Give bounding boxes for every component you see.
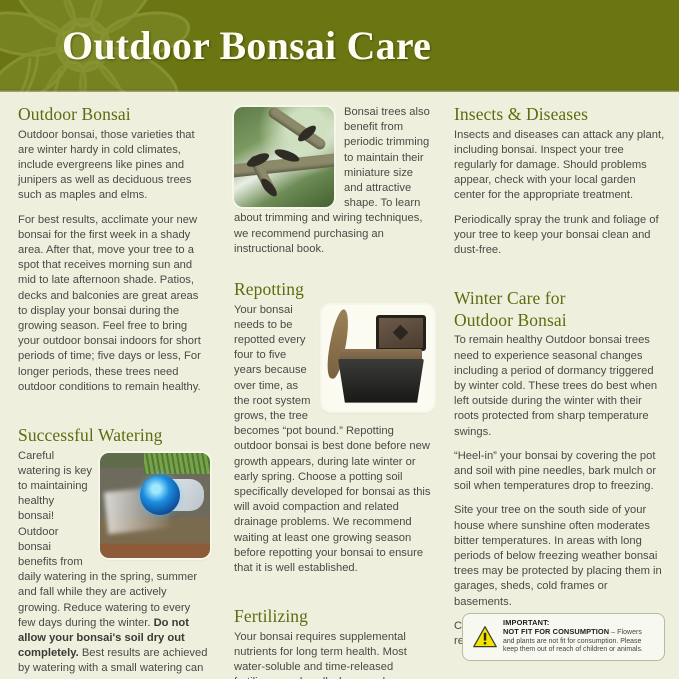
heading-successful-watering: Successful Watering	[18, 426, 210, 446]
paragraph-fertilizing: Your bonsai requires supplemental nutrie…	[234, 630, 434, 679]
heading-insects-diseases: Insects & Diseases	[454, 105, 665, 125]
paragraph-outdoor-bonsai-2: For best results, acclimate your new bon…	[18, 213, 210, 395]
middle-column: Bonsai trees also benefit from periodic …	[222, 95, 444, 679]
heading-fertilizing: Fertilizing	[234, 607, 434, 627]
paragraph-outdoor-bonsai-1: Outdoor bonsai, those varieties that are…	[18, 128, 210, 204]
section-spacer	[234, 585, 434, 607]
warning-line-3: and plants are not fit for consumption. …	[503, 638, 658, 647]
right-column: Insects & Diseases Insects and diseases …	[444, 95, 679, 649]
poster-page: Outdoor Bonsai Care Outdoor Bonsai Outdo…	[0, 0, 679, 679]
heading-repotting: Repotting	[234, 280, 434, 300]
warning-text-block: IMPORTANT: NOT FIT FOR CONSUMPTION – Flo…	[503, 619, 658, 654]
content-columns: Outdoor Bonsai Outdoor bonsai, those var…	[0, 95, 679, 679]
photo-tray-detail	[376, 315, 426, 351]
repotting-photo	[322, 305, 434, 411]
warning-line-4: keep them out of reach of children or an…	[503, 646, 658, 655]
photo-pot-detail	[338, 359, 424, 403]
photo-grass-detail	[144, 453, 210, 474]
section-spacer	[18, 404, 210, 426]
important-warning-box: IMPORTANT: NOT FIT FOR CONSUMPTION – Flo…	[462, 613, 665, 661]
page-header: Outdoor Bonsai Care	[0, 0, 679, 92]
photo-branch-detail	[267, 107, 328, 152]
page-title: Outdoor Bonsai Care	[62, 22, 431, 69]
wired-branch-photo	[234, 107, 334, 207]
heading-outdoor-bonsai: Outdoor Bonsai	[18, 105, 210, 125]
photo-bulb-detail	[140, 475, 180, 515]
paragraph-winter-2: “Heel-in” your bonsai by covering the po…	[454, 449, 665, 495]
warning-line-2-rest: – Flowers	[609, 629, 642, 636]
section-spacer	[454, 267, 665, 289]
warning-line-2-bold: NOT FIT FOR CONSUMPTION	[503, 627, 609, 636]
paragraph-insects-2: Periodically spray the trunk and foliage…	[454, 213, 665, 259]
paragraph-insects-1: Insects and diseases can attack any plan…	[454, 128, 665, 204]
section-spacer	[234, 266, 434, 280]
header-divider	[0, 89, 679, 92]
warning-triangle-icon	[472, 625, 498, 648]
warning-line-2: NOT FIT FOR CONSUMPTION – Flowers	[503, 628, 658, 638]
paragraph-winter-1: To remain healthy Outdoor bonsai trees n…	[454, 333, 665, 439]
paragraph-winter-3: Site your tree on the south side of your…	[454, 503, 665, 609]
left-column: Outdoor Bonsai Outdoor bonsai, those var…	[0, 95, 222, 679]
heading-winter-care-line1: Winter Care for	[454, 289, 665, 309]
watering-hose-photo	[100, 453, 210, 558]
heading-winter-care-line2: Outdoor Bonsai	[454, 311, 665, 331]
